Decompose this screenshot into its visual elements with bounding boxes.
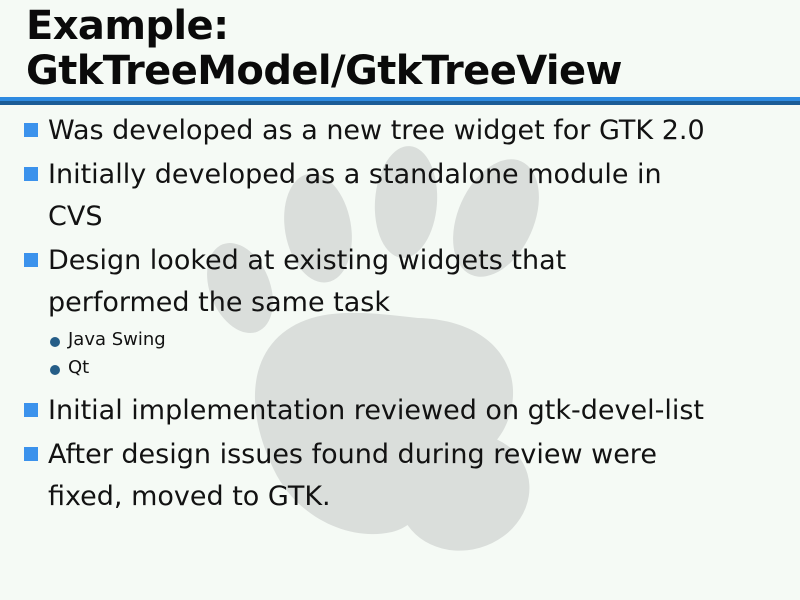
list-item: Initial implementation reviewed on gtk-d… xyxy=(0,390,800,432)
list-item-label: Initial implementation reviewed on gtk-d… xyxy=(48,395,704,426)
list-item-label: Was developed as a new tree widget for G… xyxy=(48,115,705,146)
bullet-dot-icon xyxy=(50,337,60,347)
list-item: Design looked at existing widgets that p… xyxy=(0,240,800,324)
divider-bottom-band xyxy=(0,101,800,105)
list-item-label: Design looked at existing widgets that p… xyxy=(48,245,566,318)
bullet-dot-icon xyxy=(50,365,60,375)
slide-body: Was developed as a new tree widget for G… xyxy=(0,110,800,520)
list-item: After design issues found during review … xyxy=(0,434,800,518)
sub-list-item: Java Swing xyxy=(0,326,800,354)
bullet-square-icon xyxy=(24,253,38,267)
bullet-square-icon xyxy=(24,447,38,461)
bullet-square-icon xyxy=(24,403,38,417)
sub-list-item: Qt xyxy=(0,354,800,382)
page-title: Example: GtkTreeModel/GtkTreeView xyxy=(0,0,800,94)
list-item-label: Initially developed as a standalone modu… xyxy=(48,159,662,232)
sub-list-item-label: Java Swing xyxy=(68,329,166,350)
presentation-slide: Example: GtkTreeModel/GtkTreeView Was de… xyxy=(0,0,800,600)
list-item: Initially developed as a standalone modu… xyxy=(0,154,800,238)
list-item-label: After design issues found during review … xyxy=(48,439,657,512)
slide-header: Example: GtkTreeModel/GtkTreeView xyxy=(0,0,800,94)
sub-list-item-label: Qt xyxy=(68,357,89,378)
title-divider xyxy=(0,97,800,105)
bullet-square-icon xyxy=(24,167,38,181)
bullet-square-icon xyxy=(24,123,38,137)
list-item: Was developed as a new tree widget for G… xyxy=(0,110,800,152)
